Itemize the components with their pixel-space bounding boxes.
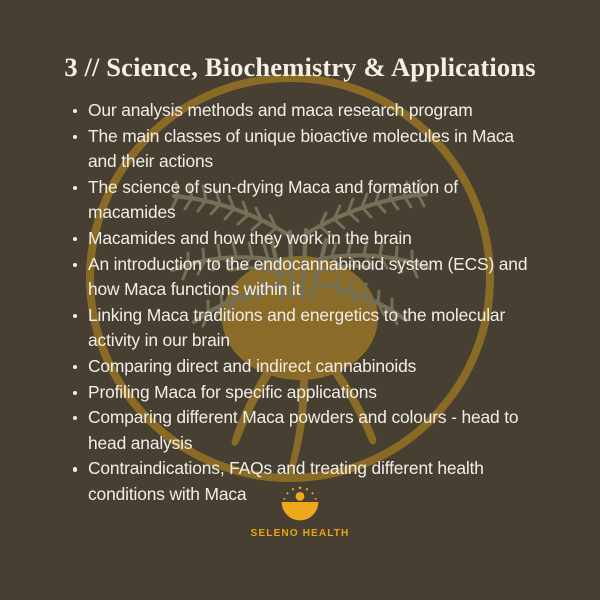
list-item: Our analysis methods and maca research p… xyxy=(68,98,536,124)
seleno-sun-bowl-icon xyxy=(274,486,326,524)
list-item: Comparing direct and indirect cannabinoi… xyxy=(68,354,536,380)
list-item: An introduction to the endocannabinoid s… xyxy=(68,252,536,303)
presentation-slide: 3 // Science, Biochemistry & Application… xyxy=(0,0,600,600)
agenda-bullet-list: Our analysis methods and maca research p… xyxy=(68,98,536,508)
page-title: 3 // Science, Biochemistry & Application… xyxy=(0,52,600,83)
list-item: The main classes of unique bioactive mol… xyxy=(68,124,536,175)
brand-logo: SELENO HEALTH xyxy=(0,486,600,539)
list-item: Profiling Maca for specific applications xyxy=(68,380,536,406)
list-item: Macamides and how they work in the brain xyxy=(68,226,536,252)
list-item: Comparing different Maca powders and col… xyxy=(68,405,536,456)
list-item: Linking Maca traditions and energetics t… xyxy=(68,303,536,354)
brand-name: SELENO HEALTH xyxy=(0,528,600,539)
list-item: The science of sun-drying Maca and forma… xyxy=(68,175,536,226)
